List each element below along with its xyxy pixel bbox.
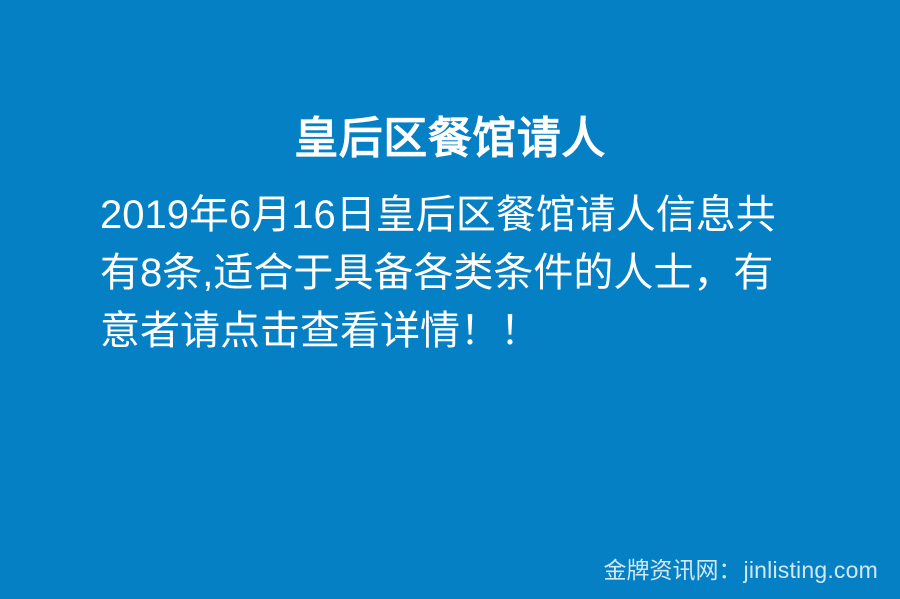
site-url-label: jinlisting.com bbox=[744, 557, 878, 583]
site-name-label: 金牌资讯网： bbox=[604, 557, 742, 583]
page-title: 皇后区餐馆请人 bbox=[0, 113, 900, 165]
poster-body-line: 2019年6月16日皇后区餐馆请人信息共有8条,适合于具备各类条件的人士，有意者… bbox=[100, 193, 776, 353]
poster-body-text: 2019年6月16日皇后区餐馆请人信息共有8条,适合于具备各类条件的人士，有意者… bbox=[100, 186, 800, 360]
poster-canvas: 皇后区餐馆请人 2019年6月16日皇后区餐馆请人信息共有8条,适合于具备各类条… bbox=[0, 0, 900, 599]
footer-watermark: 金牌资讯网：jinlisting.com bbox=[604, 555, 878, 585]
